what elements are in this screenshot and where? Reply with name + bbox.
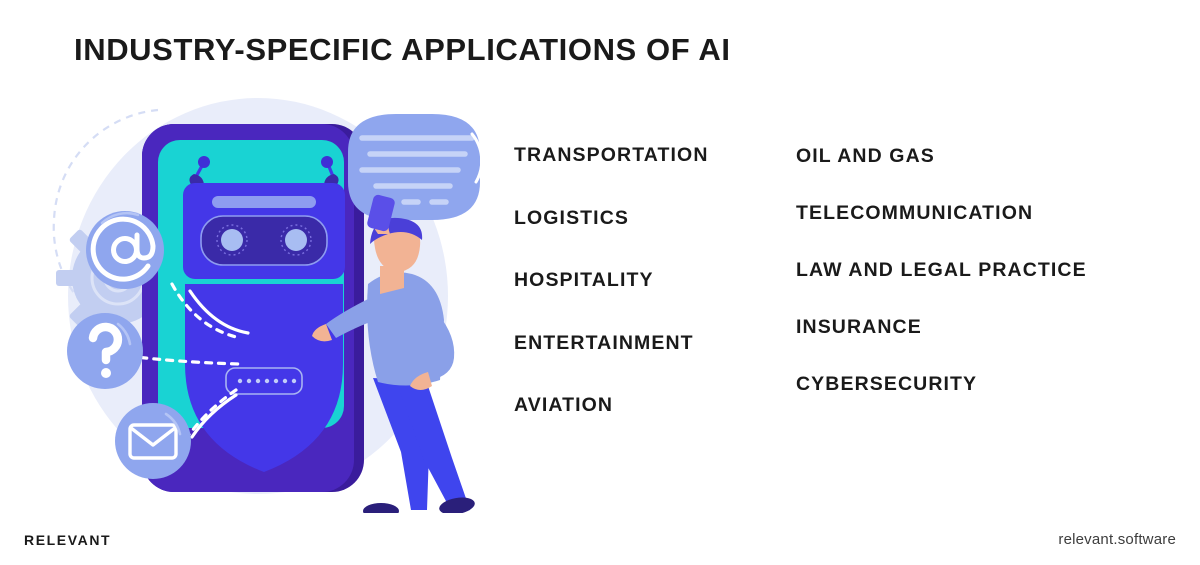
brand-logo: RELEVANT <box>24 532 111 548</box>
website-url[interactable]: relevant.software <box>1058 531 1176 548</box>
industry-item[interactable]: OIL AND GAS <box>796 147 1087 167</box>
industry-item[interactable]: HOSPITALITY <box>514 271 709 291</box>
envelope-icon <box>115 403 191 479</box>
industry-item[interactable]: INSURANCE <box>796 318 1087 338</box>
industry-list-right: OIL AND GAS TELECOMMUNICATION LAW AND LE… <box>796 147 1087 395</box>
industry-item[interactable]: AVIATION <box>514 396 709 416</box>
industry-item[interactable]: LAW AND LEGAL PRACTICE <box>796 261 1087 281</box>
industry-item[interactable]: TRANSPORTATION <box>514 146 709 166</box>
industry-item[interactable]: ENTERTAINMENT <box>514 334 709 354</box>
page-title: INDUSTRY-SPECIFIC APPLICATIONS OF AI <box>74 32 731 68</box>
industry-list-left: TRANSPORTATION LOGISTICS HOSPITALITY ENT… <box>514 146 709 416</box>
poster-canvas: INDUSTRY-SPECIFIC APPLICATIONS OF AI <box>0 0 1200 565</box>
industry-item[interactable]: TELECOMMUNICATION <box>796 204 1087 224</box>
industry-item[interactable]: CYBERSECURITY <box>796 375 1087 395</box>
hero-illustration <box>40 88 480 513</box>
industry-item[interactable]: LOGISTICS <box>514 209 709 229</box>
question-mark-icon <box>67 313 143 389</box>
